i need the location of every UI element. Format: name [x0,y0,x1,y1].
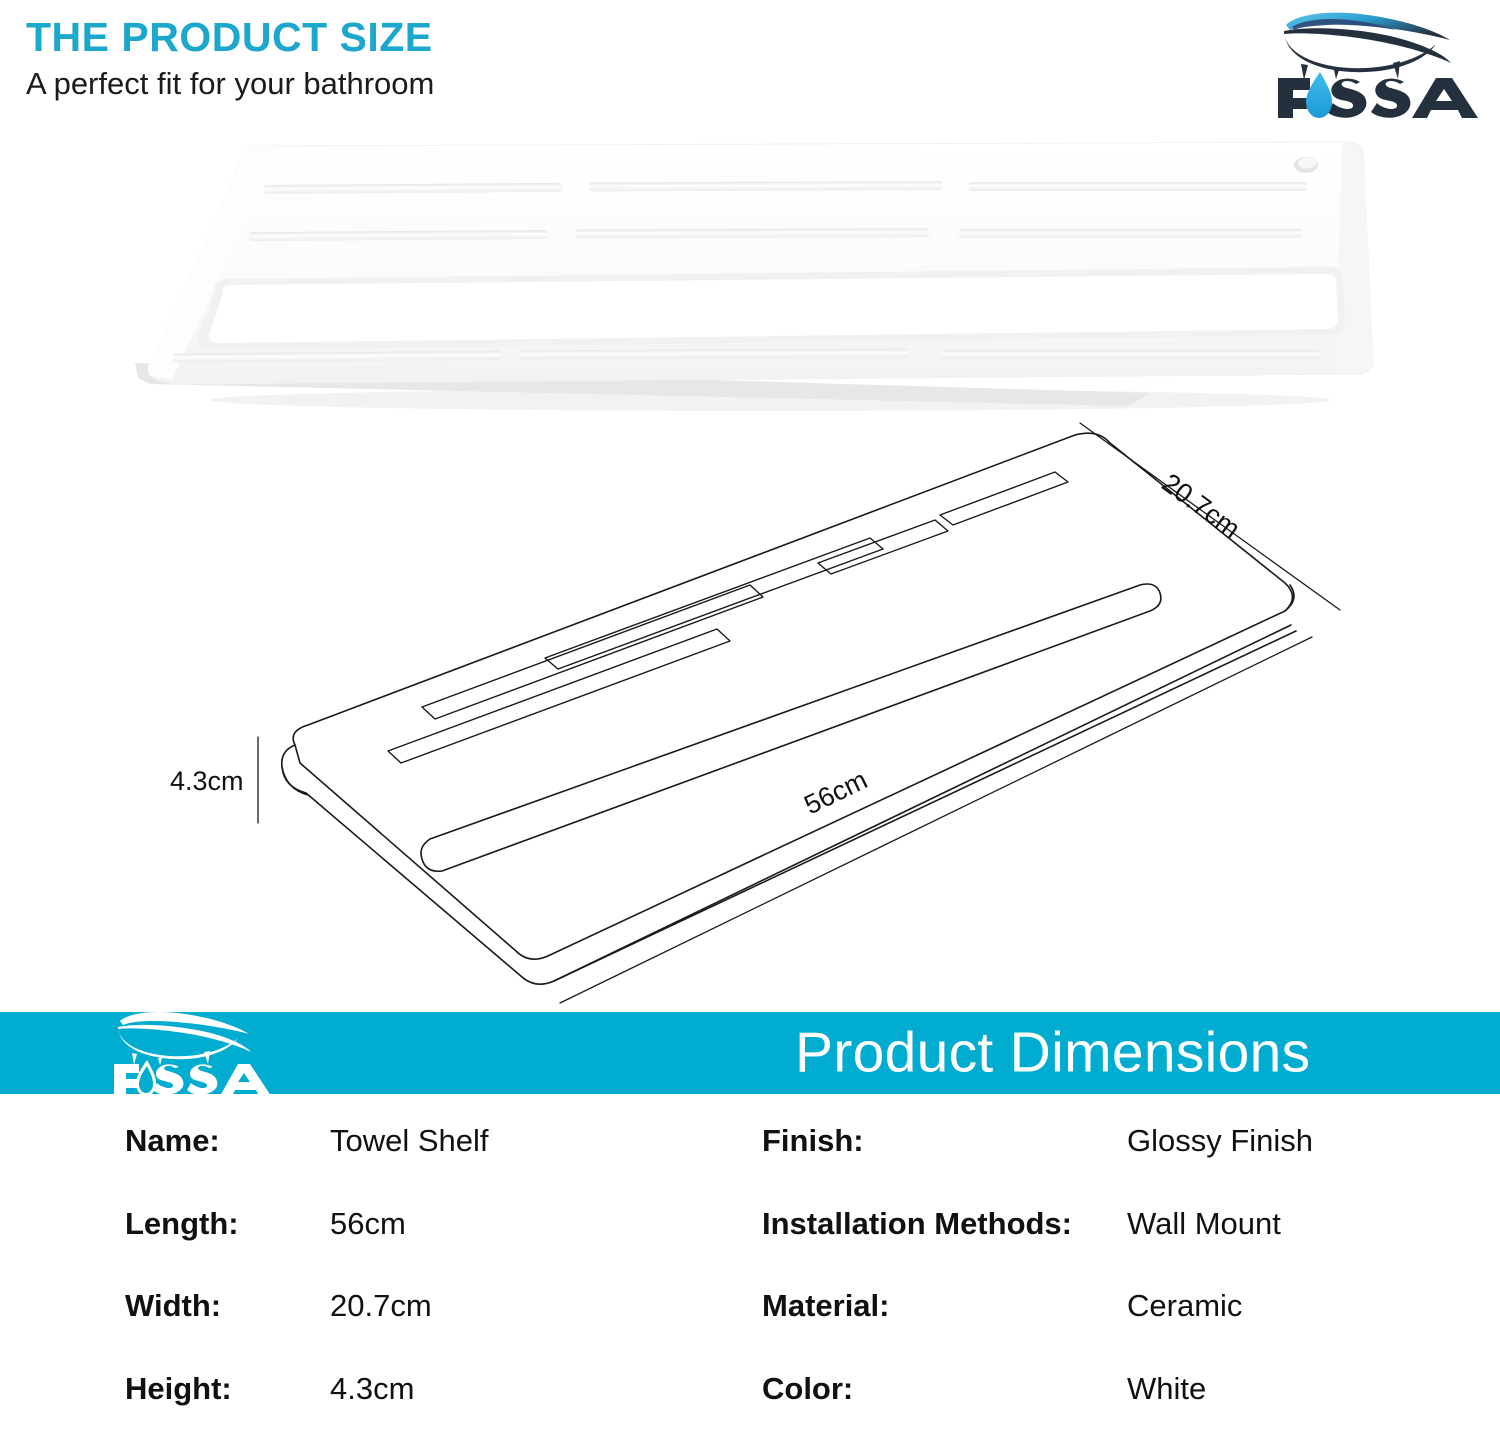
brand-logo [1276,6,1484,118]
spec-row-length: Length: 56cm [0,1183,750,1266]
dimension-label-height: 4.3cm [170,766,244,796]
dimension-label-length: 56cm [799,764,871,820]
spec-row-name: Name: Towel Shelf [0,1100,750,1183]
spec-key-installation: Installation Methods: [762,1206,1127,1242]
spec-value-material: Ceramic [1127,1288,1242,1324]
main-slot [421,584,1161,871]
spec-value-finish: Glossy Finish [1127,1123,1313,1159]
spec-row-material: Material: Ceramic [750,1265,1500,1348]
spec-key-width: Width: [125,1288,330,1324]
bathtub-swoosh-icon [1284,13,1451,80]
spec-key-name: Name: [125,1123,330,1159]
spec-row-height: Height: 4.3cm [0,1348,750,1431]
page-title: THE PRODUCT SIZE [26,16,726,59]
spec-value-installation: Wall Mount [1127,1206,1281,1242]
brand-logo-white [112,1008,277,1098]
spec-value-name: Towel Shelf [330,1123,489,1159]
spec-key-material: Material: [762,1288,1127,1324]
dimension-label-width: 20.7cm [1156,468,1245,544]
spec-key-height: Height: [125,1371,330,1407]
bathtub-swoosh-icon [118,1012,251,1065]
spec-value-width: 20.7cm [330,1288,432,1324]
spec-value-height: 4.3cm [330,1371,414,1407]
product-photo [120,138,1385,413]
dimension-line-length [560,637,1312,1003]
spec-value-length: 56cm [330,1206,406,1242]
spec-key-finish: Finish: [762,1123,1127,1159]
spec-bar-title: Product Dimensions [795,1025,1310,1082]
spec-key-length: Length: [125,1206,330,1242]
spec-row-finish: Finish: Glossy Finish [750,1100,1500,1183]
product-dimensions-bar: Product Dimensions [0,1012,1500,1094]
screw-hole [1294,157,1318,173]
specifications-table: Name: Towel Shelf Finish: Glossy Finish … [0,1100,1500,1430]
page-subtitle: A perfect fit for your bathroom [26,65,726,102]
spec-key-color: Color: [762,1371,1127,1407]
spec-row-color: Color: White [750,1348,1500,1431]
spec-row-installation: Installation Methods: Wall Mount [750,1183,1500,1266]
technical-drawing: 4.3cm 20.7cm 56cm [150,415,1480,1015]
page-header: THE PRODUCT SIZE A perfect fit for your … [26,16,726,102]
spec-value-color: White [1127,1371,1206,1407]
spec-row-width: Width: 20.7cm [0,1265,750,1348]
